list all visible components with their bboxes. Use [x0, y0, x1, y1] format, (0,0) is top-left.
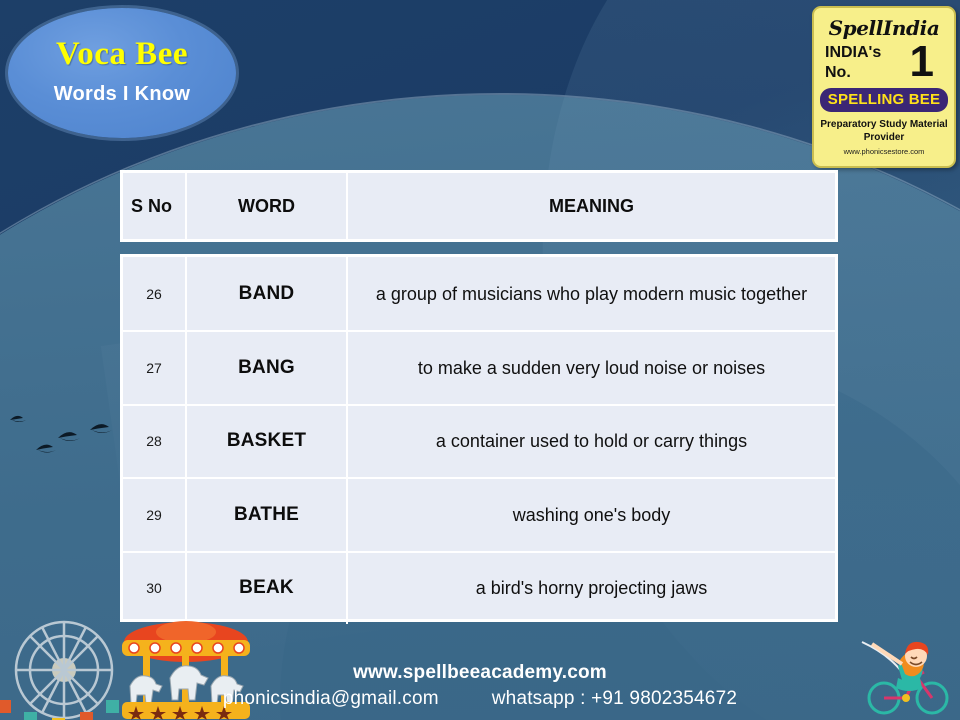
badge-url: www.phonicsestore.com	[814, 147, 954, 156]
logo-subtitle: Words I Know	[8, 83, 236, 106]
table-row: 28BASKETa container used to hold or carr…	[123, 404, 835, 477]
cell-word: BASKET	[185, 406, 346, 477]
word-value: BASKET	[227, 430, 306, 452]
logo-ellipse-shape	[8, 8, 236, 138]
meaning-value: washing one's body	[513, 503, 671, 527]
word-value: BATHE	[234, 504, 299, 526]
sno-value: 30	[146, 580, 162, 596]
cell-sno: 26	[123, 257, 185, 330]
cell-word: BATHE	[185, 479, 346, 550]
table-row: 27BANGto make a sudden very loud noise o…	[123, 330, 835, 403]
cell-sno: 28	[123, 406, 185, 477]
cell-meaning: a group of musicians who play modern mus…	[346, 257, 835, 330]
cell-sno: 29	[123, 479, 185, 550]
column-header-meaning: MEANING	[346, 173, 835, 239]
word-value: BANG	[238, 357, 295, 379]
word-value: BAND	[239, 283, 295, 305]
column-header-word: WORD	[185, 173, 346, 239]
footer-contact-row: phonicsindia@gmail.com whatsapp : +91 98…	[0, 688, 960, 710]
meaning-value: a bird's horny projecting jaws	[476, 576, 708, 600]
word-value: BEAK	[239, 577, 294, 599]
slide-canvas: Voca Bee Words I Know SpellIndia INDIA's…	[0, 0, 960, 720]
table-row: 26BANDa group of musicians who play mode…	[123, 257, 835, 330]
vocabulary-table-body: 26BANDa group of musicians who play mode…	[120, 254, 838, 622]
badge-tagline: Preparatory Study Material Provider	[814, 118, 954, 144]
cell-meaning: washing one's body	[346, 479, 835, 550]
footer-whatsapp[interactable]: whatsapp : +91 9802354672	[492, 688, 737, 709]
badge-indias-label: INDIA's	[825, 43, 881, 63]
meaning-value: to make a sudden very loud noise or nois…	[418, 356, 765, 380]
sno-value: 29	[146, 507, 162, 523]
badge-rank-number: 1	[910, 38, 934, 86]
cell-word: BEAK	[185, 553, 346, 624]
logo-title: Voca Bee	[8, 36, 236, 73]
footer-email[interactable]: phonicsindia@gmail.com	[223, 688, 439, 709]
cell-meaning: to make a sudden very loud noise or nois…	[346, 332, 835, 403]
voca-bee-logo: Voca Bee Words I Know	[8, 8, 236, 138]
badge-spelling-bee-banner: SPELLING BEE	[820, 88, 948, 112]
footer-website[interactable]: www.spellbeeacademy.com	[0, 662, 960, 684]
sno-value: 27	[146, 360, 162, 376]
cell-meaning: a bird's horny projecting jaws	[346, 553, 835, 624]
badge-rank-group: INDIA's No. 1	[814, 42, 954, 86]
table-header-row: S No WORD MEANING	[120, 170, 838, 242]
cell-meaning: a container used to hold or carry things	[346, 406, 835, 477]
table-row: 29BATHEwashing one's body	[123, 477, 835, 550]
cell-word: BANG	[185, 332, 346, 403]
meaning-value: a container used to hold or carry things	[436, 429, 747, 453]
column-header-sno: S No	[123, 173, 185, 239]
spellindia-badge: SpellIndia INDIA's No. 1 SPELLING BEE Pr…	[812, 6, 956, 168]
cell-sno: 27	[123, 332, 185, 403]
footer-contact: www.spellbeeacademy.com phonicsindia@gma…	[0, 662, 960, 710]
cell-word: BAND	[185, 257, 346, 330]
meaning-value: a group of musicians who play modern mus…	[376, 282, 807, 306]
sno-value: 28	[146, 433, 162, 449]
badge-no-label: No.	[825, 63, 851, 83]
table-row: 30BEAKa bird's horny projecting jaws	[123, 551, 835, 624]
sno-value: 26	[146, 286, 162, 302]
birds-icon	[8, 398, 138, 478]
